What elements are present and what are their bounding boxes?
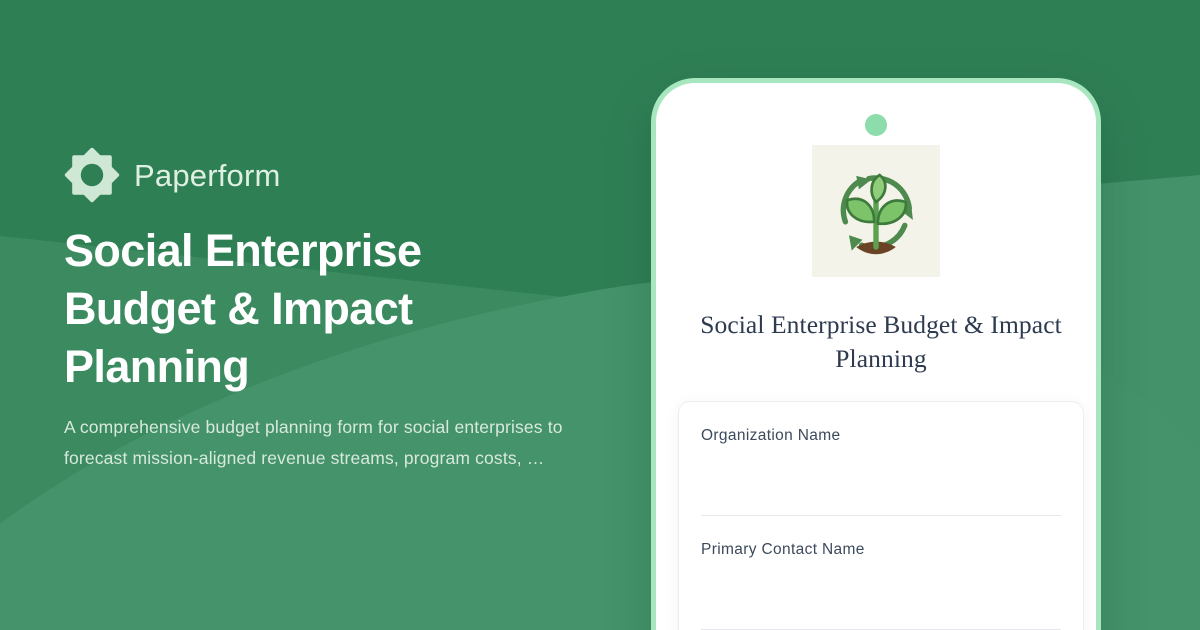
plant-sprout-recycle-icon [812, 145, 940, 277]
phone-mockup: Social Enterprise Budget & Impact Planni… [651, 78, 1101, 630]
page-title: Social Enterprise Budget & Impact Planni… [64, 222, 534, 396]
camera-dot-icon [865, 114, 887, 136]
form-field-label: Organization Name [701, 426, 1061, 446]
form-title: Social Enterprise Budget & Impact Planni… [682, 308, 1080, 376]
form-field-organization-name[interactable]: Organization Name [679, 402, 1083, 516]
form-card: Organization Name Primary Contact Name [678, 401, 1084, 630]
form-field-primary-contact-name[interactable]: Primary Contact Name [679, 516, 1083, 630]
form-field-label: Primary Contact Name [701, 540, 1061, 560]
brand-wordmark: Paperform [134, 160, 281, 191]
hero-content: Paperform Social Enterprise Budget & Imp… [64, 0, 624, 630]
page-subtitle: A comprehensive budget planning form for… [64, 412, 564, 474]
brand-lockup: Paperform [64, 147, 281, 203]
paperform-star-logo-icon [64, 147, 120, 203]
